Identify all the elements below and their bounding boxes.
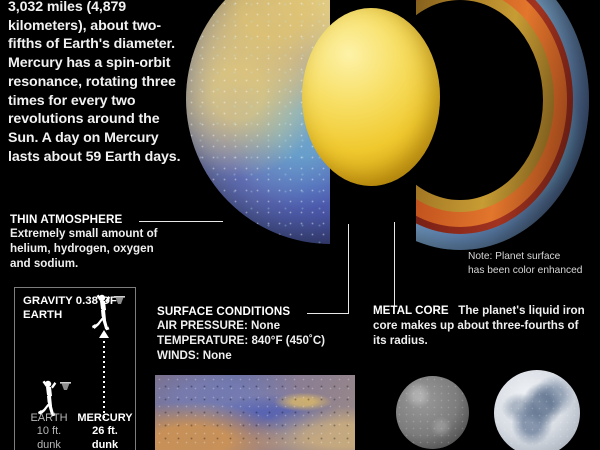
- core-leader-line: [394, 222, 395, 307]
- mercury-gravity-label: MERCURY 26 ft. dunk: [73, 412, 137, 450]
- surface-conditions-callout: SURFACE CONDITIONS AIR PRESSURE: None TE…: [157, 305, 357, 363]
- earth-gravity-label: EARTH 10 ft. dunk: [21, 412, 77, 450]
- moon-sphere-photo: [494, 370, 580, 450]
- basketball-hoop-icon: [114, 292, 125, 301]
- atmosphere-heading: THIN ATMOSPHERE: [10, 213, 170, 226]
- mercury-label-action: dunk: [73, 439, 137, 450]
- metal-core-callout: METAL CORE The planet's liquid iron core…: [373, 303, 591, 348]
- earth-label-name: EARTH: [21, 412, 77, 425]
- mercury-label-name: MERCURY: [73, 412, 137, 425]
- metal-core-sphere: [302, 8, 440, 186]
- intro-paragraph: 3,032 miles (4,879 kilometers), about tw…: [8, 0, 188, 167]
- atmosphere-body: Extremely small amount of helium, hydrog…: [10, 226, 170, 271]
- basketball-hoop-icon: [60, 378, 71, 387]
- color-note-line1: Note: Planet surface: [468, 250, 596, 264]
- atmosphere-callout: THIN ATMOSPHERE Extremely small amount o…: [10, 213, 170, 271]
- mercury-infographic: 3,032 miles (4,879 kilometers), about tw…: [0, 0, 600, 450]
- surface-air-pressure: AIR PRESSURE: None: [157, 318, 357, 333]
- moon-sphere-texture: [494, 370, 580, 450]
- mercury-sphere-photo: [396, 376, 469, 449]
- surface-leader-line-vertical: [348, 224, 349, 314]
- mercury-surface-photo: [155, 375, 355, 450]
- color-enhanced-note: Note: Planet surface has been color enha…: [468, 250, 596, 278]
- color-note-line2: has been color enhanced: [468, 264, 596, 278]
- earth-label-action: dunk: [21, 439, 77, 450]
- surface-photo-texture: [155, 375, 355, 450]
- basketball-player-icon: [87, 292, 113, 334]
- earth-label-height: 10 ft.: [21, 425, 77, 438]
- surface-winds: WINDS: None: [157, 348, 357, 363]
- mercury-sphere-texture: [396, 376, 469, 449]
- core-heading: METAL CORE: [373, 304, 455, 317]
- surface-temperature: TEMPERATURE: 840°F (450˚C): [157, 333, 357, 348]
- surface-heading: SURFACE CONDITIONS: [157, 305, 357, 318]
- gravity-comparison-box: GRAVITY 0.38 OF EARTH: [14, 287, 136, 450]
- mercury-label-height: 26 ft.: [73, 425, 137, 438]
- jump-height-dotted-line: [103, 336, 105, 420]
